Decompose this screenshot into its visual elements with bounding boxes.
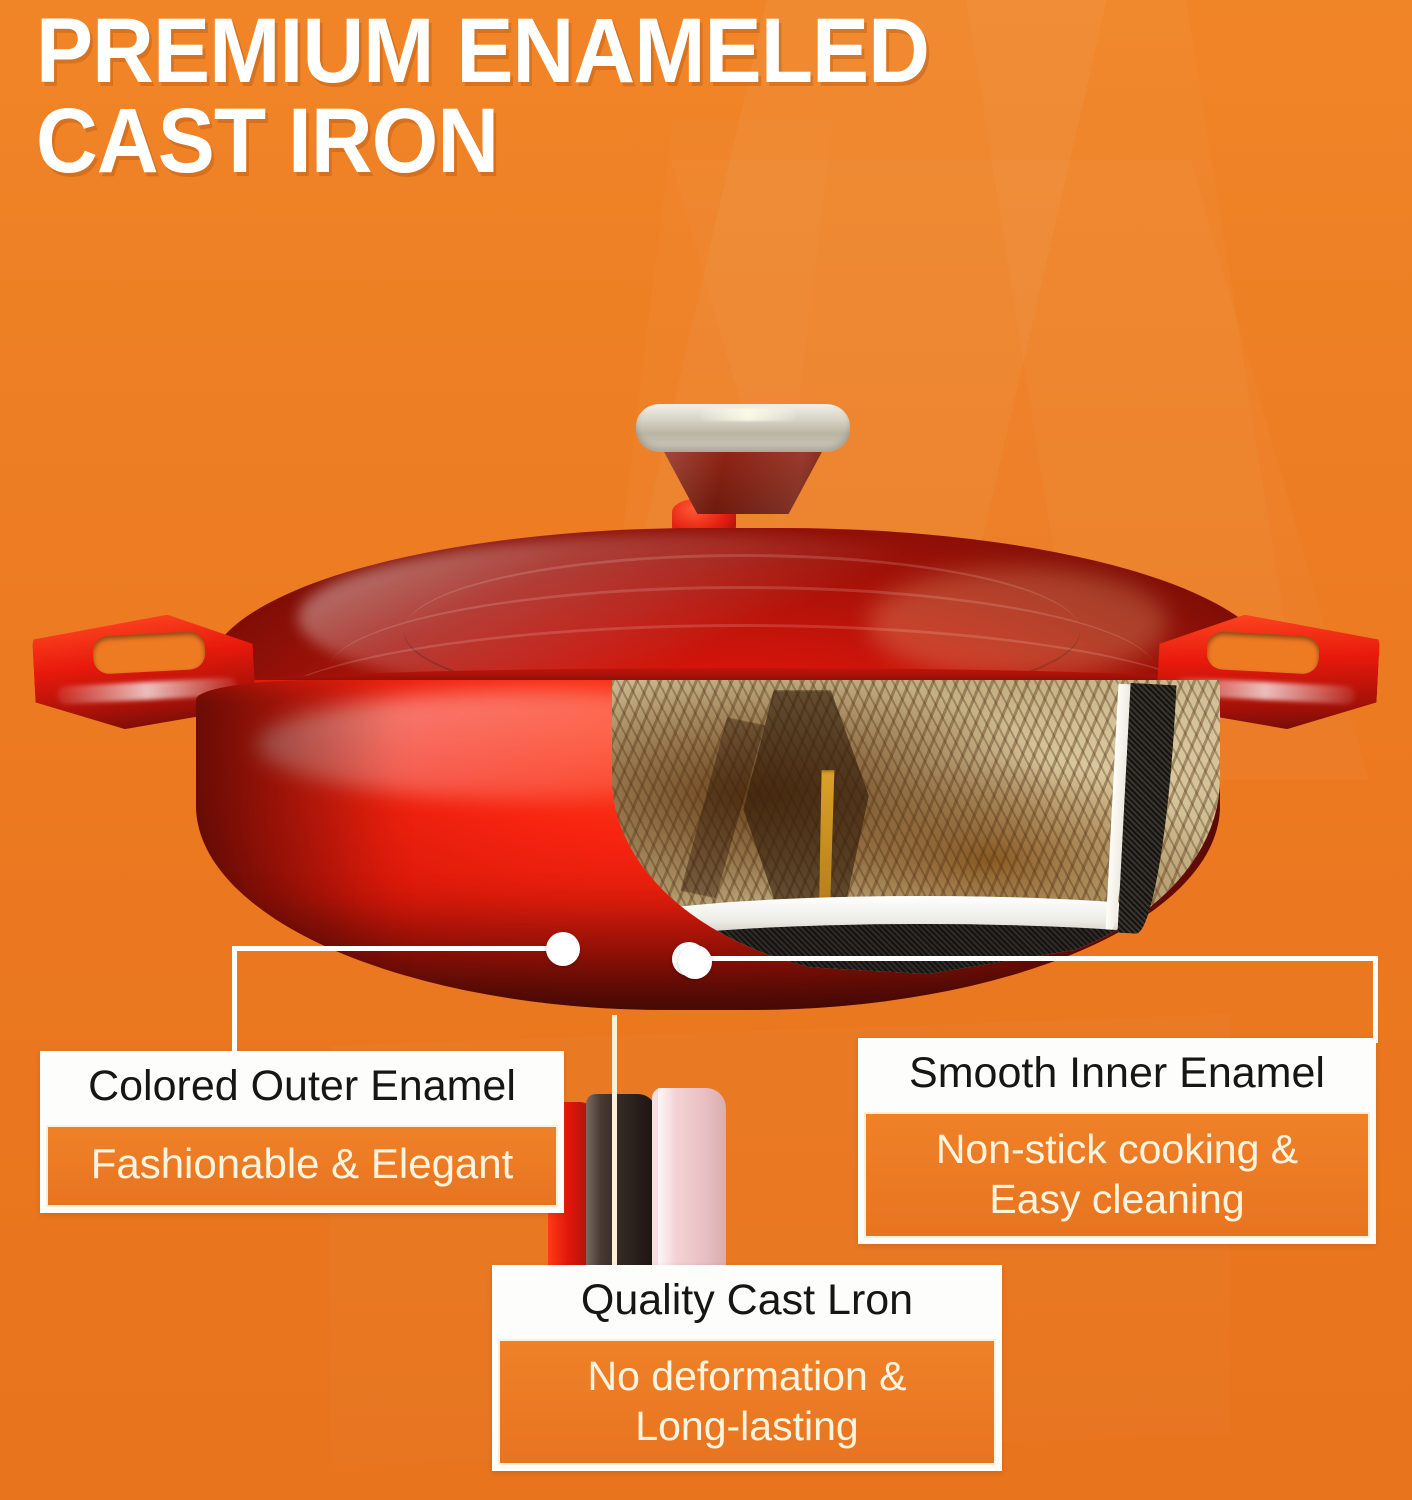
callout-smooth-inner-enamel: Smooth Inner Enamel Non-stick cooking & …	[858, 1038, 1376, 1244]
callout-dot-outer-enamel	[546, 932, 580, 966]
leader-line-inner-enamel	[1373, 956, 1378, 1043]
callout-dot-cast-iron	[678, 945, 712, 979]
callout-subtitle-wrap: Fashionable & Elegant	[40, 1119, 564, 1213]
right-handle-hole	[1206, 631, 1320, 675]
callout-title: Colored Outer Enamel	[40, 1051, 564, 1119]
lid-gloss-highlight	[868, 568, 1168, 678]
callout-subtitle-wrap: Non-stick cooking & Easy cleaning	[858, 1106, 1376, 1244]
headline-title: PREMIUM ENAMELED CAST IRON	[36, 6, 1282, 186]
callout-quality-cast-iron: Quality Cast Lron No deformation & Long-…	[492, 1265, 1002, 1471]
lid-knob-highlight	[700, 408, 796, 421]
leader-line-inner-enamel	[700, 956, 1378, 961]
leader-line-cast-iron	[612, 1015, 617, 1270]
leader-line-outer-enamel	[232, 946, 237, 1051]
callout-subtitle: Non-stick cooking & Easy cleaning	[864, 1112, 1370, 1238]
left-handle-hole	[92, 631, 206, 675]
callout-title: Smooth Inner Enamel	[858, 1038, 1376, 1106]
callout-subtitle: No deformation & Long-lasting	[498, 1339, 996, 1465]
callout-colored-outer-enamel: Colored Outer Enamel Fashionable & Elega…	[40, 1051, 564, 1213]
callout-subtitle: Fashionable & Elegant	[46, 1125, 558, 1207]
callout-subtitle-wrap: No deformation & Long-lasting	[492, 1333, 1002, 1471]
leader-line-outer-enamel	[232, 946, 562, 951]
callout-title: Quality Cast Lron	[492, 1265, 1002, 1333]
